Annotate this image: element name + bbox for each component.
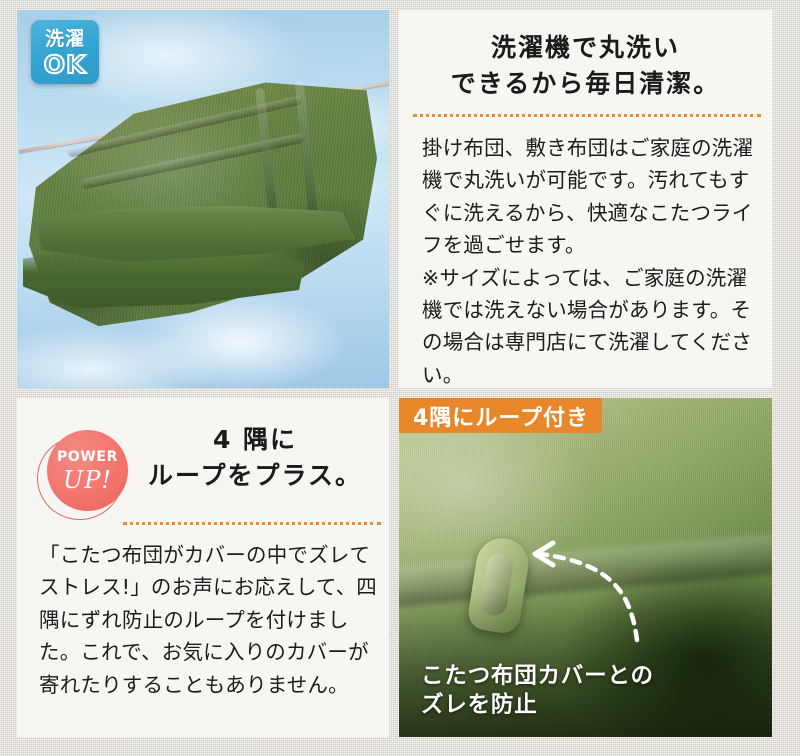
washing-body-paragraph-1: 掛け布団、敷き布団はご家庭の洗濯機で丸洗いが可能です。汚れてもすぐに洗えるから、… [422,132,758,262]
washing-body-paragraph-2: ※サイズによっては、ご家庭の洗濯機では洗えない場合があります。その場合は専門店に… [422,262,758,389]
dashed-arrow-icon [519,540,659,650]
loop-heading: 4 隅に ループをプラス。 [131,422,379,493]
corner-loop-label: 4隅にループ付き [399,398,602,433]
power-up-badge-power-text: POWER [57,450,118,464]
washing-heading-line-1: 洗濯機で丸洗い [413,30,758,66]
washing-heading: 洗濯機で丸洗い できるから毎日清潔。 [413,30,758,101]
washing-heading-line-2: できるから毎日清潔。 [413,66,758,102]
washing-body: 掛け布団、敷き布団はご家庭の洗濯機で丸洗いが可能です。汚れてもすぐに洗えるから、… [413,132,758,388]
loop-closeup-photo: 4隅にループ付き こたつ布団カバーとの ズレを防止 [399,398,772,737]
washable-ok-badge: 洗濯 OK [31,20,99,84]
hanging-futon-photo: 洗濯 OK [17,10,389,388]
loop-heading-line-1: 4 隅に [131,422,379,458]
power-up-badge-disc: POWER UP! [47,430,128,511]
washable-badge-ok: OK [44,52,87,77]
washable-badge-kanji: 洗濯 [45,30,85,49]
washing-text-panel: 洗濯機で丸洗い できるから毎日清潔。 掛け布団、敷き布団はご家庭の洗濯機で丸洗い… [399,10,772,388]
loop-text-panel: POWER UP! 4 隅に ループをプラス。 「こたつ布団がカバーの中でズレて… [17,398,389,737]
power-up-badge-up-text: UP! [63,468,112,492]
loop-body: 「こたつ布団がカバーの中でズレてストレス!」のお声にお応えして、四隅にずれ防止の… [27,525,379,701]
washing-divider [413,114,761,117]
loop-caption-line-2: ズレを防止 [421,691,654,721]
power-up-badge: POWER UP! [44,430,128,514]
loop-caption-line-1: こたつ布団カバーとの [421,662,654,692]
loop-heading-row: POWER UP! 4 隅に ループをプラス。 [27,412,379,516]
corner-loop-label-text: 4隅にループ付き [413,400,589,432]
loop-caption: こたつ布団カバーとの ズレを防止 [421,662,654,721]
loop-heading-line-2: ループをプラス。 [131,458,379,494]
loop-body-paragraph-1: 「こたつ布団がカバーの中でズレてストレス!」のお声にお応えして、四隅にずれ防止の… [39,539,379,701]
